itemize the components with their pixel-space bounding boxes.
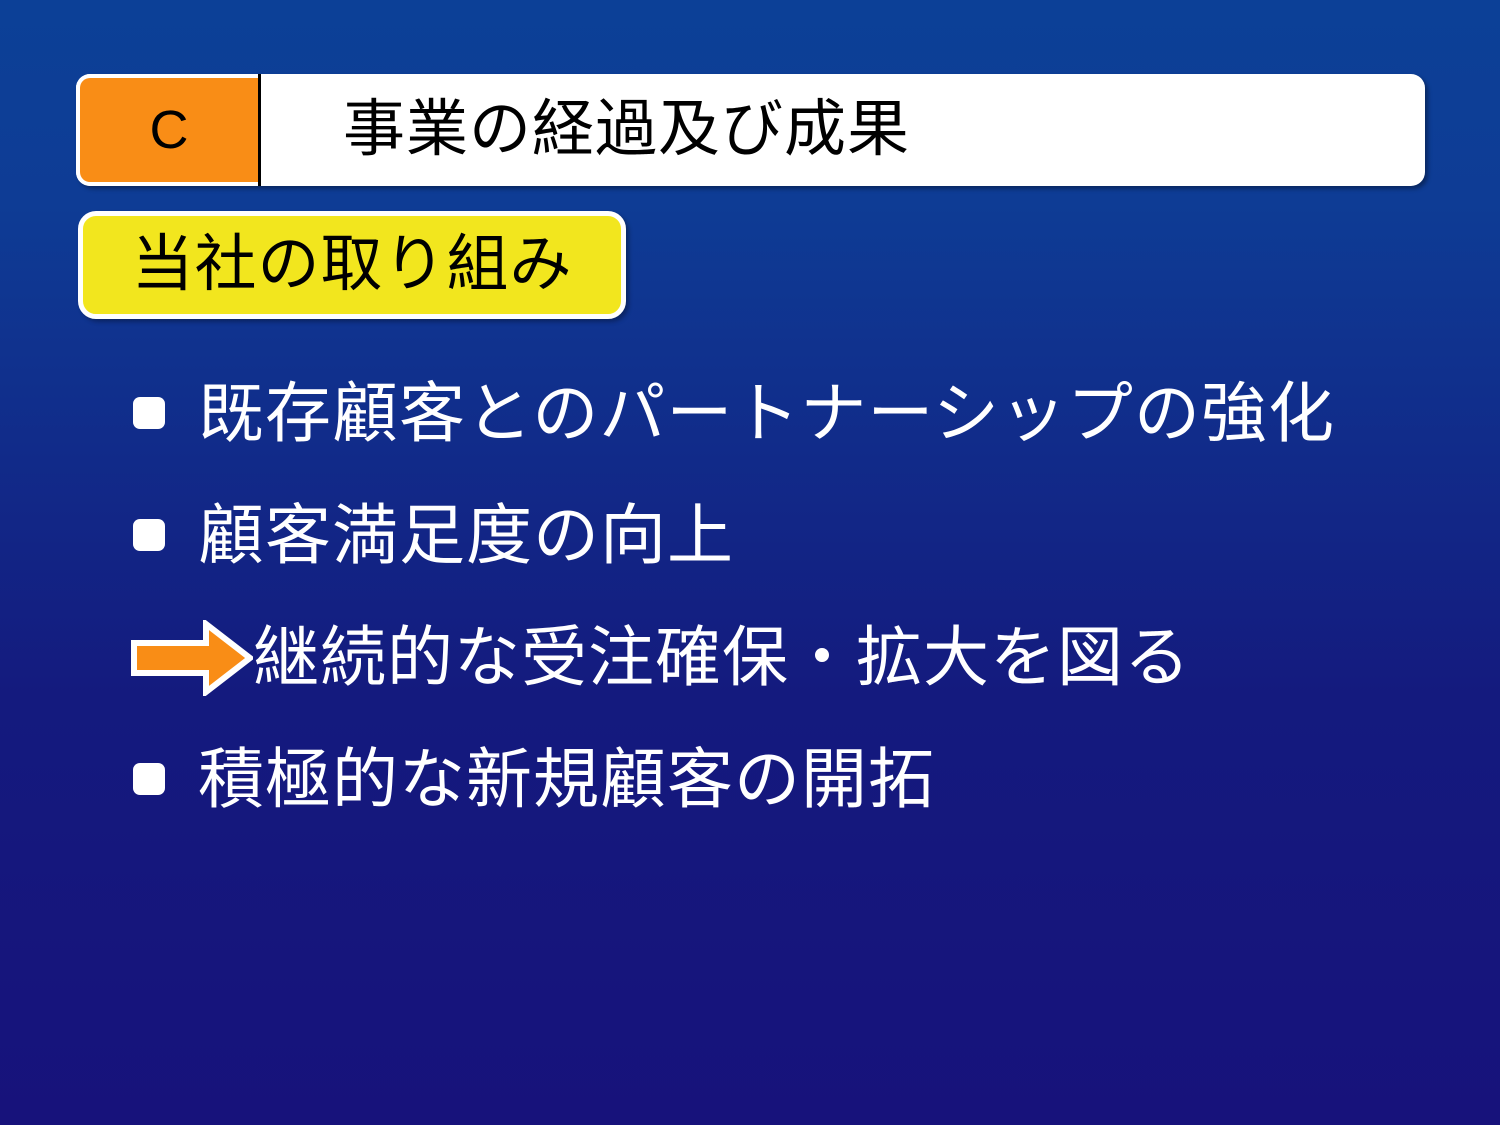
- section-badge-label: C: [150, 103, 189, 157]
- section-header-bar: C 事業の経過及び成果: [76, 74, 1425, 186]
- right-arrow-icon: [131, 620, 253, 696]
- square-bullet-icon: [133, 763, 165, 795]
- slide-canvas: C 事業の経過及び成果 当社の取り組み 既存顧客とのパートナーシップの強化 顧客…: [0, 0, 1500, 1125]
- list-item-conclusion: 継続的な受注確保・拡大を図る: [0, 596, 1500, 718]
- square-bullet-icon: [133, 397, 165, 429]
- list-item-label: 継続的な受注確保・拡大を図る: [253, 624, 1191, 690]
- subtitle-label: 当社の取り組み: [131, 234, 572, 296]
- list-item: 顧客満足度の向上: [0, 474, 1500, 596]
- section-badge: C: [76, 74, 258, 186]
- square-bullet-icon: [133, 519, 165, 551]
- arrow-marker-cell: [133, 618, 253, 696]
- bullet-list: 既存顧客とのパートナーシップの強化 顧客満足度の向上 継続的な受注確保・拡大を図…: [0, 352, 1500, 840]
- subtitle-tag: 当社の取り組み: [78, 211, 626, 319]
- list-item: 積極的な新規顧客の開拓: [0, 718, 1500, 840]
- list-item-label: 顧客満足度の向上: [198, 502, 734, 568]
- page-title: 事業の経過及び成果: [261, 74, 1425, 186]
- list-item: 既存顧客とのパートナーシップの強化: [0, 352, 1500, 474]
- list-item-label: 既存顧客とのパートナーシップの強化: [198, 380, 1335, 446]
- list-item-label: 積極的な新規顧客の開拓: [198, 746, 935, 812]
